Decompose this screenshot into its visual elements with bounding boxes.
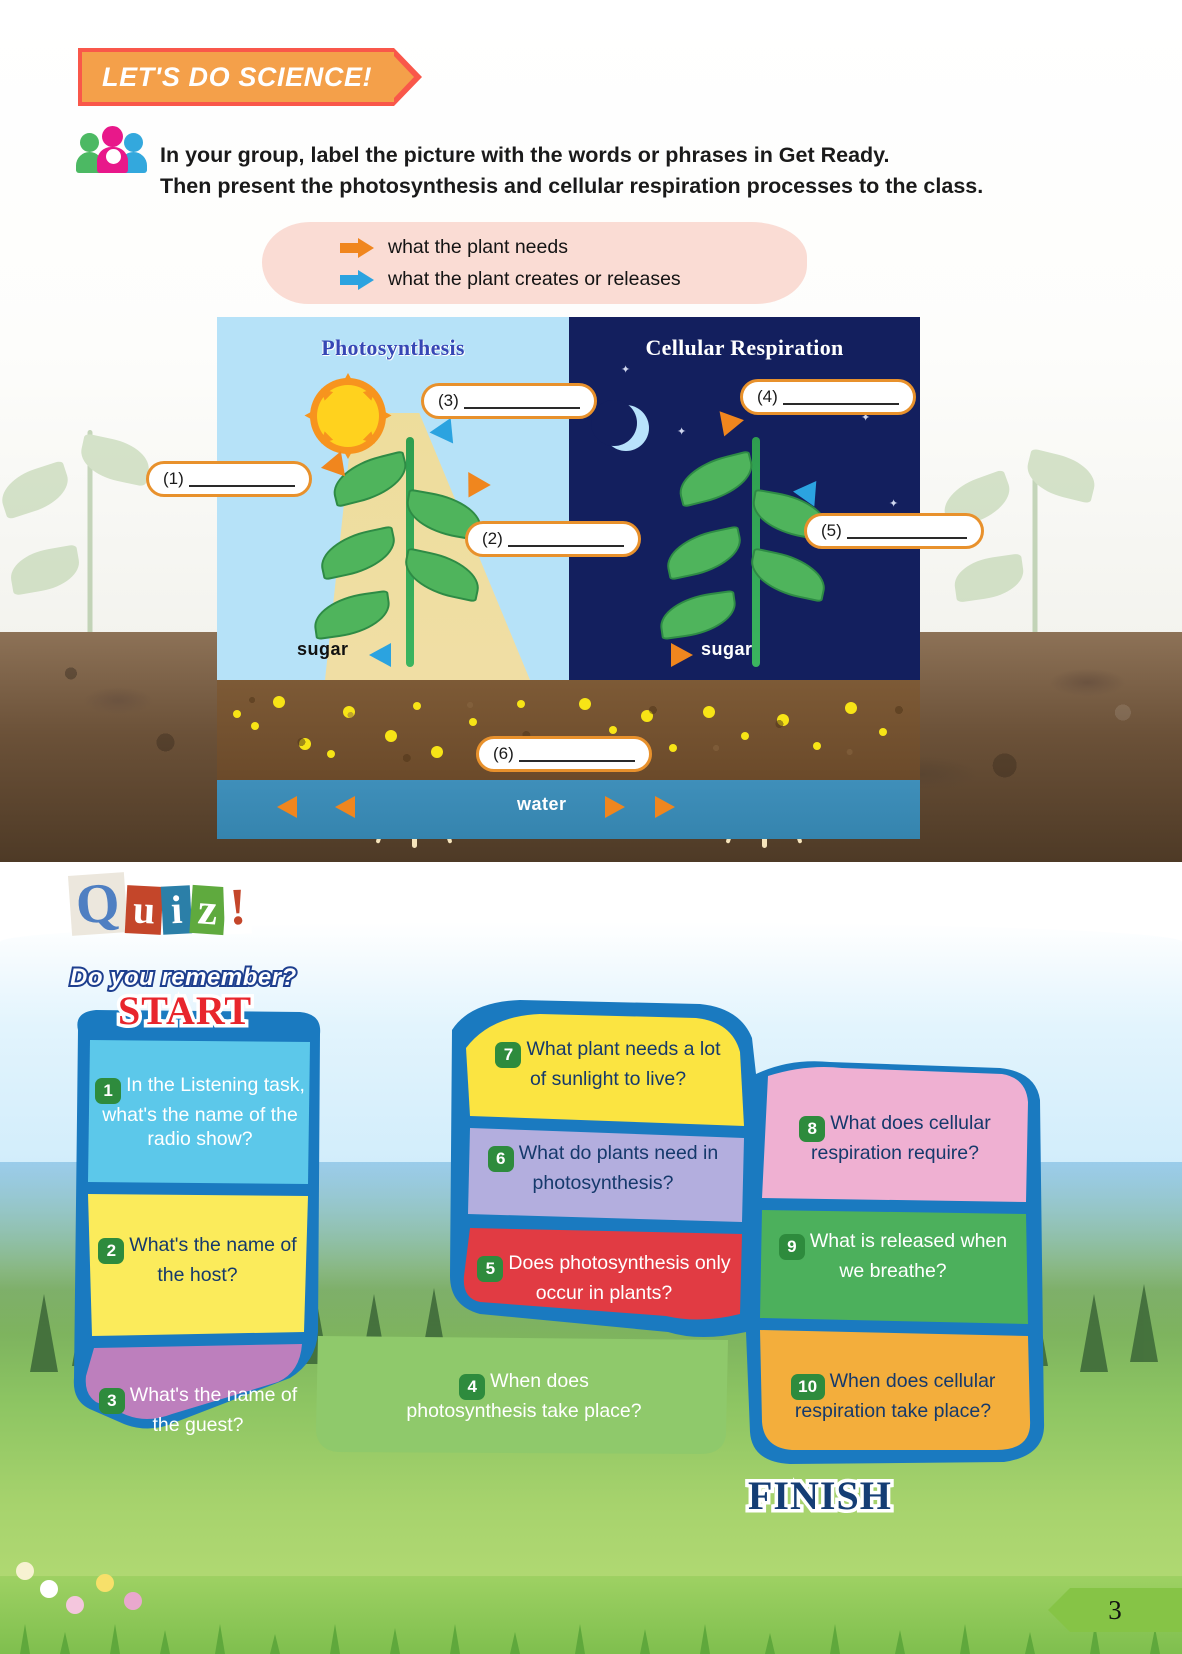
answer-blank-4[interactable]: (4) <box>740 379 916 415</box>
blank-number-2: (2) <box>482 529 503 549</box>
orange-arrow-water-right <box>605 796 625 818</box>
label-sugar-left: sugar <box>297 639 349 660</box>
tile-2-number: 2 <box>98 1238 124 1264</box>
tile-8-number: 8 <box>799 1116 825 1142</box>
cellular-respiration-panel: Cellular Respiration ✦ ✦ ✦ ✦ ✦ sugar <box>569 317 920 680</box>
photosynthesis-respiration-diagram: Photosynthesis sugar Cellu <box>217 317 920 839</box>
tile-6-question: What do plants need in photosynthesis? <box>519 1142 718 1194</box>
tile-1-text: 1In the Listening task, what's the name … <box>95 1074 305 1152</box>
quiz-section: Q u i z ! Do you remember? 1In the List <box>0 862 1182 1654</box>
answer-blank-6[interactable]: (6) <box>476 736 652 772</box>
tile-3-question: What's the name of the guest? <box>130 1384 297 1436</box>
orange-arrow-sugar <box>671 643 693 667</box>
legend-item-creates: what the plant creates or releases <box>340 268 681 291</box>
blank-number-4: (4) <box>757 387 778 407</box>
tile-10-question: When does cellular respiration take plac… <box>795 1370 996 1422</box>
legend-label-creates: what the plant creates or releases <box>388 268 681 291</box>
instruction-text: In your group, label the picture with th… <box>160 140 1040 201</box>
tile-5-text: 5Does photosynthesis only occur in plant… <box>472 1252 736 1306</box>
tile-10-text: 10When does cellular respiration take pl… <box>764 1370 1022 1424</box>
moon-icon <box>603 405 649 451</box>
blank-number-1: (1) <box>163 469 184 489</box>
banner-arrow-tail <box>394 48 422 106</box>
instruction-line-2: Then present the photosynthesis and cell… <box>160 171 1040 202</box>
tile-9-question: What is released when we breathe? <box>810 1230 1007 1282</box>
answer-blank-5[interactable]: (5) <box>804 513 984 549</box>
legend-bubble: what the plant needs what the plant crea… <box>262 222 807 304</box>
plant-leaf <box>673 450 758 508</box>
photosynthesis-title: Photosynthesis <box>217 335 569 361</box>
finish-label: FINISH <box>748 1472 892 1519</box>
start-label: START <box>118 987 252 1034</box>
tile-1-number: 1 <box>95 1078 121 1104</box>
tile-6-number: 6 <box>488 1146 514 1172</box>
legend-label-needs: what the plant needs <box>388 236 568 259</box>
banner-label: LET'S DO SCIENCE! <box>102 62 372 93</box>
plant-leaf <box>311 590 394 640</box>
instruction-line-1: In your group, label the picture with th… <box>160 140 1040 171</box>
tile-3-number: 3 <box>99 1388 125 1414</box>
blue-arrow-sugar <box>369 643 391 667</box>
decorative-seedling-left <box>20 430 160 660</box>
orange-arrow-water-right2 <box>655 796 675 818</box>
blue-arrow-icon <box>340 270 374 290</box>
tile-10-number: 10 <box>791 1374 825 1400</box>
group-of-people-icon <box>78 123 152 173</box>
blank-number-6: (6) <box>493 744 514 764</box>
tile-7-question: What plant needs a lot of sunlight to li… <box>526 1038 720 1090</box>
tile-6-text: 6What do plants need in photosynthesis? <box>470 1142 736 1196</box>
plant-leaf <box>316 525 401 580</box>
blank-number-3: (3) <box>438 391 459 411</box>
tile-5-question: Does photosynthesis only occur in plants… <box>508 1252 730 1304</box>
plant-leaf <box>662 525 747 580</box>
label-sugar-right: sugar <box>701 639 753 660</box>
plant-leaf <box>657 590 740 640</box>
answer-blank-1[interactable]: (1) <box>146 461 312 497</box>
tile-5-number: 5 <box>477 1256 503 1282</box>
tile-4-text: 4When does photosynthesis take place? <box>400 1370 648 1424</box>
tile-8-text: 8What does cellular respiration require? <box>768 1112 1022 1166</box>
tile-2-question: What's the name of the host? <box>129 1234 296 1286</box>
tile-4-question: When does photosynthesis take place? <box>406 1370 641 1422</box>
seedling-leaf <box>952 553 1027 602</box>
tile-9-text: 9What is released when we breathe? <box>768 1230 1018 1284</box>
banner-body: LET'S DO SCIENCE! <box>78 48 394 106</box>
blank-number-5: (5) <box>821 521 842 541</box>
tile-2-text: 2What's the name of the host? <box>95 1234 300 1288</box>
tile-4-number: 4 <box>459 1374 485 1400</box>
water-layer: water <box>217 780 920 839</box>
tile-7-number: 7 <box>495 1042 521 1068</box>
orange-arrow-icon <box>340 238 374 258</box>
tile-8-question: What does cellular respiration require? <box>811 1112 991 1164</box>
answer-blank-2[interactable]: (2) <box>465 521 641 557</box>
plant-day <box>335 437 485 667</box>
cellular-respiration-title: Cellular Respiration <box>569 335 920 361</box>
tile-7-text: 7What plant needs a lot of sunlight to l… <box>490 1038 726 1092</box>
legend-item-needs: what the plant needs <box>340 236 568 259</box>
tile-9-number: 9 <box>779 1234 805 1260</box>
page-number: 3 <box>1048 1588 1182 1632</box>
tile-1-question: In the Listening task, what's the name o… <box>102 1074 305 1150</box>
tile-3-text: 3What's the name of the guest? <box>98 1384 298 1438</box>
section-banner: LET'S DO SCIENCE! <box>78 48 394 106</box>
plant-night <box>681 437 831 667</box>
photosynthesis-panel: Photosynthesis sugar <box>217 317 569 680</box>
orange-arrow-water-left2 <box>335 796 355 818</box>
orange-arrow-water-left <box>277 796 297 818</box>
answer-blank-3[interactable]: (3) <box>421 383 597 419</box>
label-water: water <box>517 794 567 815</box>
